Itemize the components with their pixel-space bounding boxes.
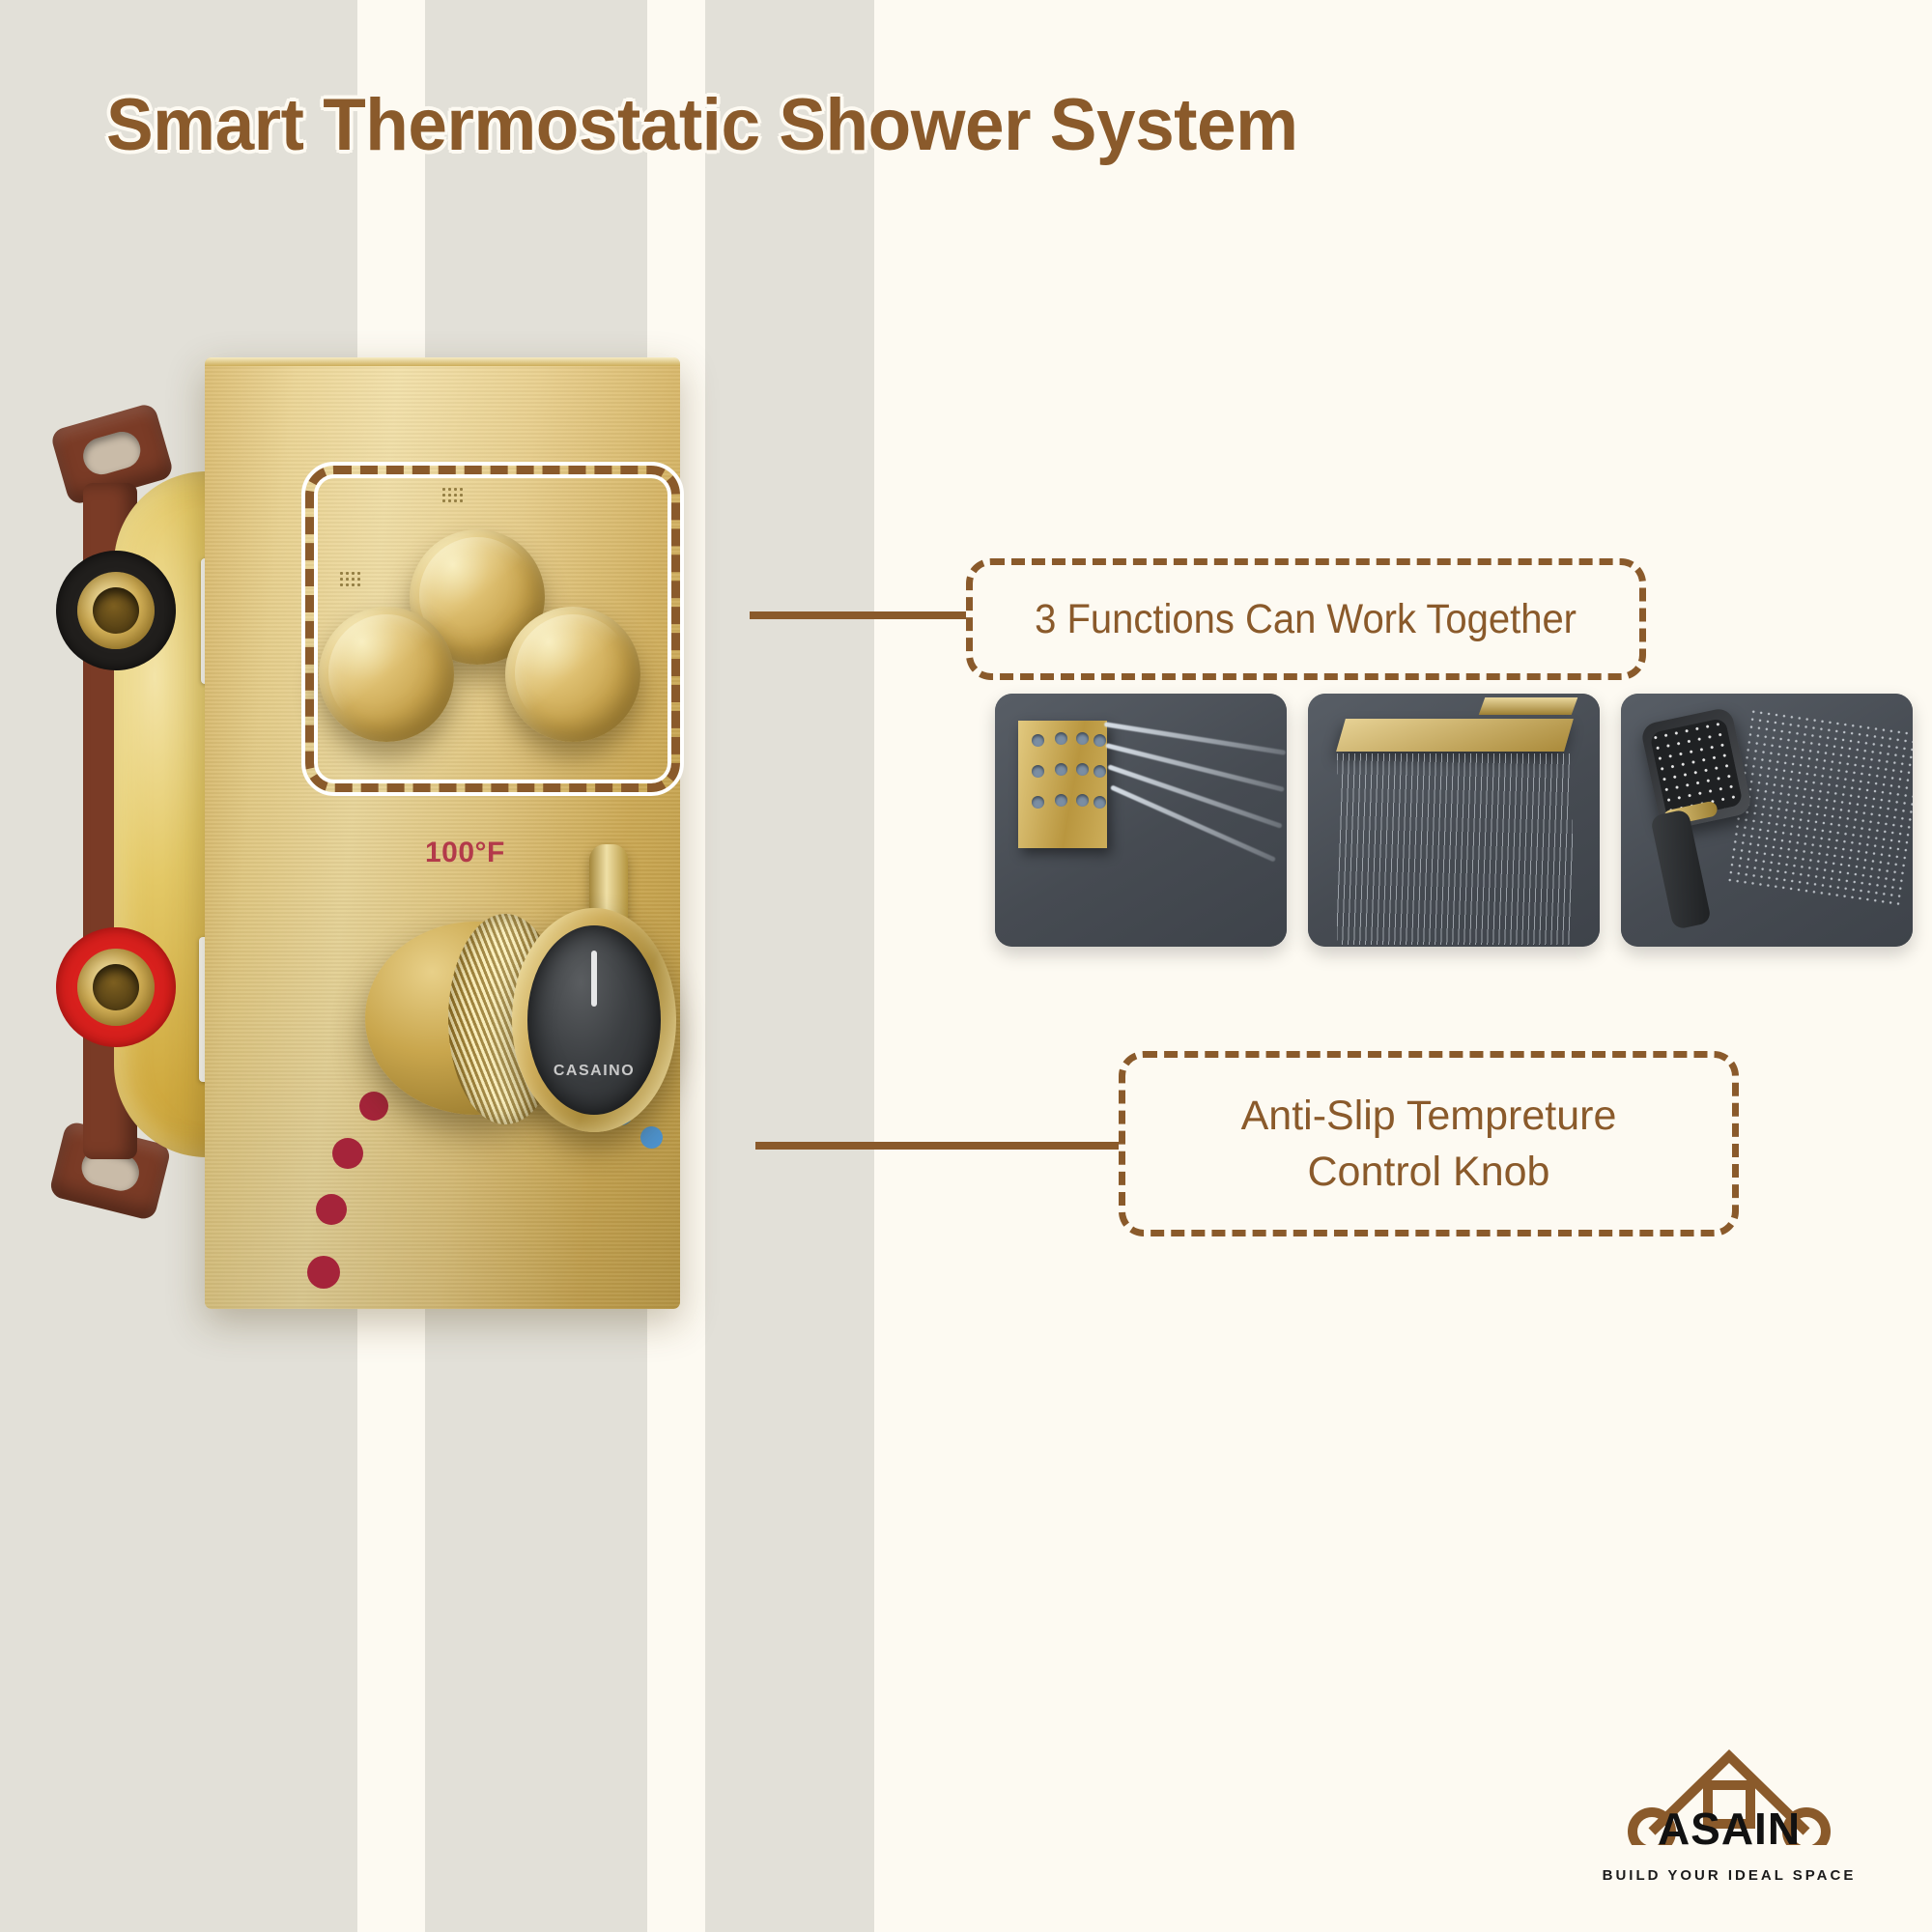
- function-knobs-highlight-box: [305, 466, 680, 792]
- hand-shower-spray: [1725, 707, 1913, 910]
- temperature-label: 100°F: [425, 837, 505, 869]
- plate-top-bevel: [205, 357, 680, 366]
- rainfall-head: [1336, 719, 1574, 752]
- knob-face[interactable]: CASAINO: [527, 925, 661, 1115]
- rain-water-curtain: [1337, 753, 1573, 945]
- logo-wordmark: ASAIN: [1584, 1803, 1874, 1855]
- thumbnail-hand-shower[interactable]: [1621, 694, 1913, 947]
- body-jet-fixture: [1018, 721, 1107, 848]
- knob-indicator-tick: [591, 951, 597, 1007]
- thumbnail-rain-head[interactable]: [1308, 694, 1600, 947]
- hot-inlet-port: [56, 927, 176, 1047]
- thumbnail-body-jets[interactable]: [995, 694, 1287, 947]
- page-title: Smart Thermostatic Shower System: [106, 83, 1297, 167]
- port-bore-mix: [93, 587, 139, 634]
- outlet-mix-port: [56, 551, 176, 670]
- callout-knob-text: Anti-Slip Tempreture Control Knob: [1241, 1088, 1617, 1200]
- infographic-canvas: Smart Thermostatic Shower System Outlet …: [0, 0, 1932, 1932]
- callout-knob-line-1: Anti-Slip Tempreture: [1241, 1093, 1617, 1139]
- brand-logo: ASAIN BUILD YOUR IDEAL SPACE: [1584, 1739, 1874, 1884]
- callout-functions-text: 3 Functions Can Work Together: [1036, 596, 1577, 643]
- port-bore-hot: [93, 964, 139, 1010]
- callout-leader-line-functions: [750, 611, 970, 619]
- temp-dot-hot-2: [316, 1194, 347, 1225]
- callout-knob-line-2: Control Knob: [1307, 1149, 1549, 1195]
- callout-leader-line-knob: [755, 1142, 1124, 1150]
- shower-arm: [1479, 697, 1578, 715]
- thermostatic-control-knob[interactable]: CASAINO: [365, 908, 676, 1132]
- feature-thumbnail-strip: [995, 694, 1913, 947]
- callout-functions: 3 Functions Can Work Together: [966, 558, 1646, 680]
- knob-brand-label: CASAINO: [527, 1063, 661, 1080]
- background-stripe-3: [705, 0, 874, 1932]
- temp-dot-hot-3: [332, 1138, 363, 1169]
- temp-dot-hot-1: [307, 1256, 340, 1289]
- logo-tagline: BUILD YOUR IDEAL SPACE: [1584, 1867, 1874, 1884]
- knob-bezel: CASAINO: [512, 908, 676, 1132]
- callout-knob: Anti-Slip Tempreture Control Knob: [1119, 1051, 1739, 1236]
